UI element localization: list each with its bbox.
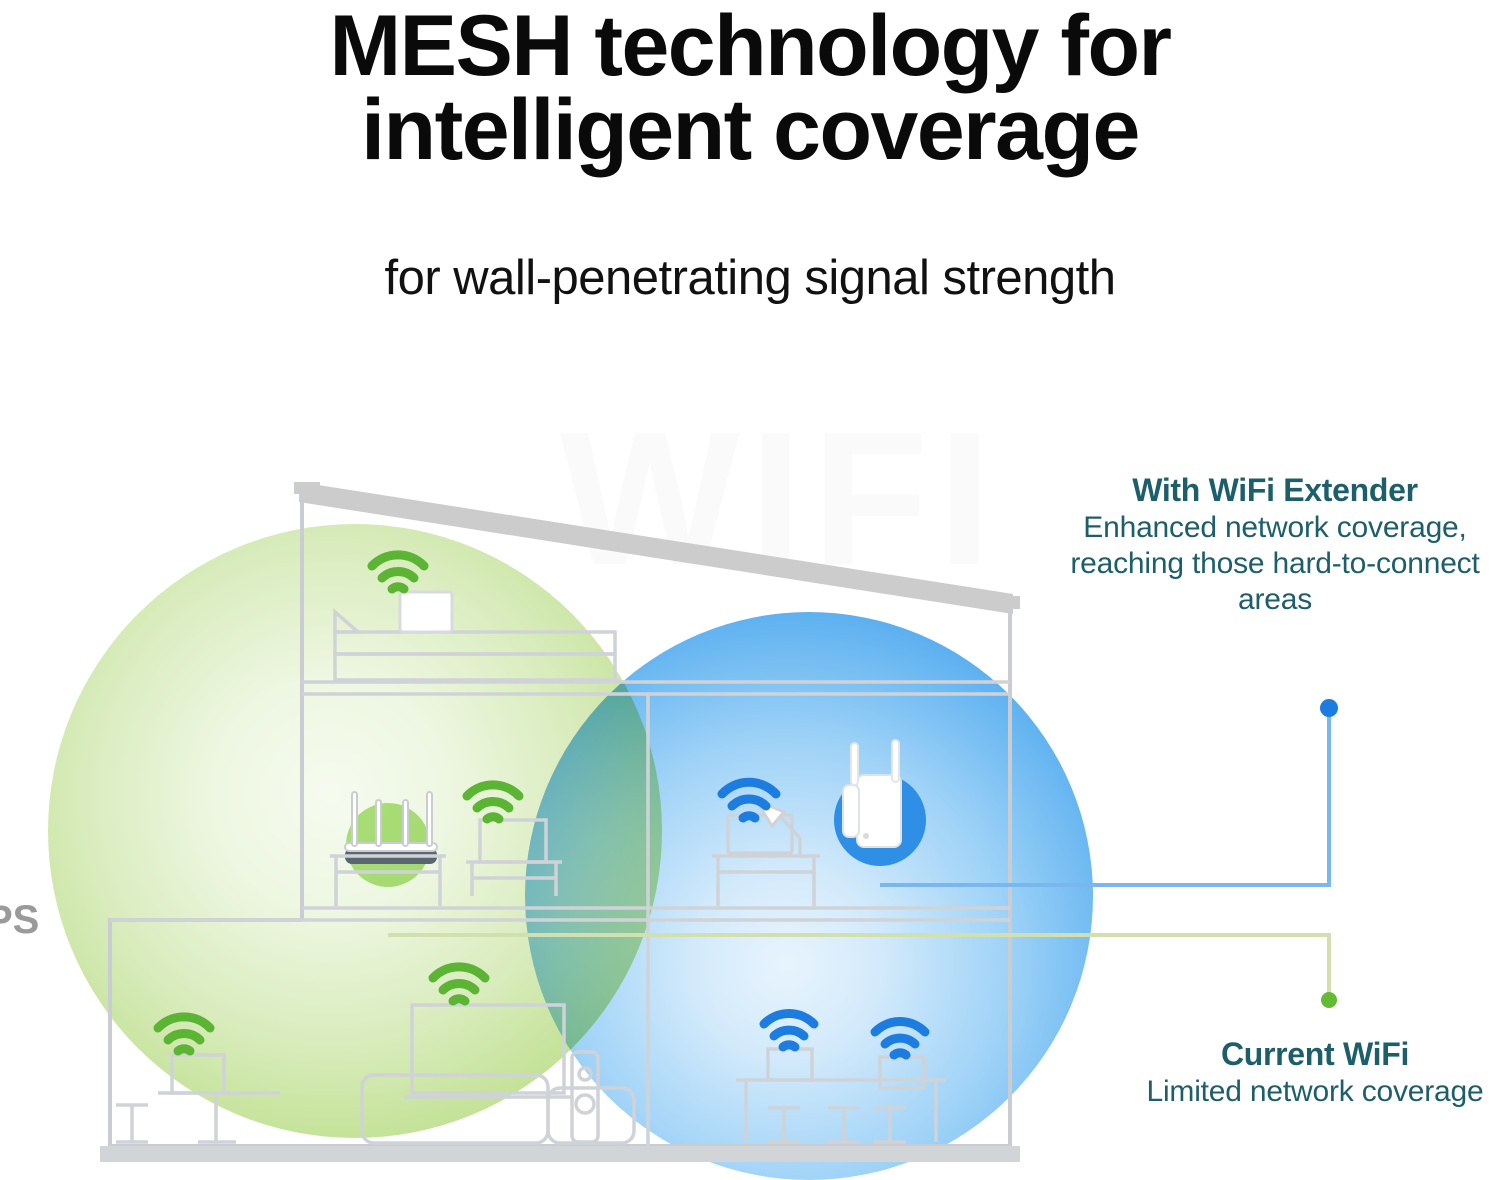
callout-with-wifi-extender-description: Enhanced network coverage, reaching thos…: [1050, 510, 1500, 618]
callout-with-wifi-extender-title: With WiFi Extender: [1050, 472, 1500, 510]
callout-current-wifi-title: Current WiFi: [1130, 1036, 1500, 1074]
wifi-icon-laptop-mid: [467, 785, 519, 819]
wifi-icon-ground-right-a: [764, 1013, 814, 1047]
laptop-ground-left-icon: [172, 1055, 224, 1093]
sofa-icon: [362, 1075, 548, 1143]
callout-current-wifi: Current WiFi Limited network coverage: [1130, 1036, 1500, 1110]
connector-dot-current-wifi: [1321, 992, 1337, 1008]
television-icon: [412, 1005, 564, 1093]
callout-with-wifi-extender: With WiFi Extender Enhanced network cove…: [1050, 472, 1500, 618]
attic-room: [335, 555, 615, 680]
floor-lamp-icon: [116, 1105, 148, 1142]
connector-dot-with-extender: [1320, 699, 1338, 717]
wifi-icon-ground-right-b: [875, 1021, 925, 1055]
ground-floor-left: [116, 967, 634, 1143]
laptop-ground-right-b-icon: [880, 1057, 924, 1088]
wifi-icon-ground-left: [158, 1017, 210, 1051]
laptop-ground-right-a-icon: [768, 1049, 812, 1080]
stools: [768, 1108, 906, 1142]
callout-current-wifi-description: Limited network coverage: [1130, 1074, 1500, 1110]
wifi-extender-icon: [843, 740, 901, 847]
corner-watermark-text: PS: [0, 898, 39, 943]
connector-with-extender: [880, 710, 1329, 885]
wifi-icon-attic: [372, 555, 424, 589]
middle-floor-left: [330, 785, 562, 906]
connector-current-wifi: [388, 935, 1329, 998]
speaker-tower-icon: [572, 1052, 598, 1142]
middle-floor-right: [712, 740, 926, 906]
floor-slabs: [110, 682, 1010, 1146]
printer-icon: [400, 592, 452, 632]
ground-floor-right: [736, 1013, 946, 1142]
laptop-icon: [480, 820, 546, 862]
infographic-canvas: WIFI MESH technology for intelligent cov…: [0, 0, 1500, 1172]
wifi-icon-tv: [433, 967, 485, 1001]
